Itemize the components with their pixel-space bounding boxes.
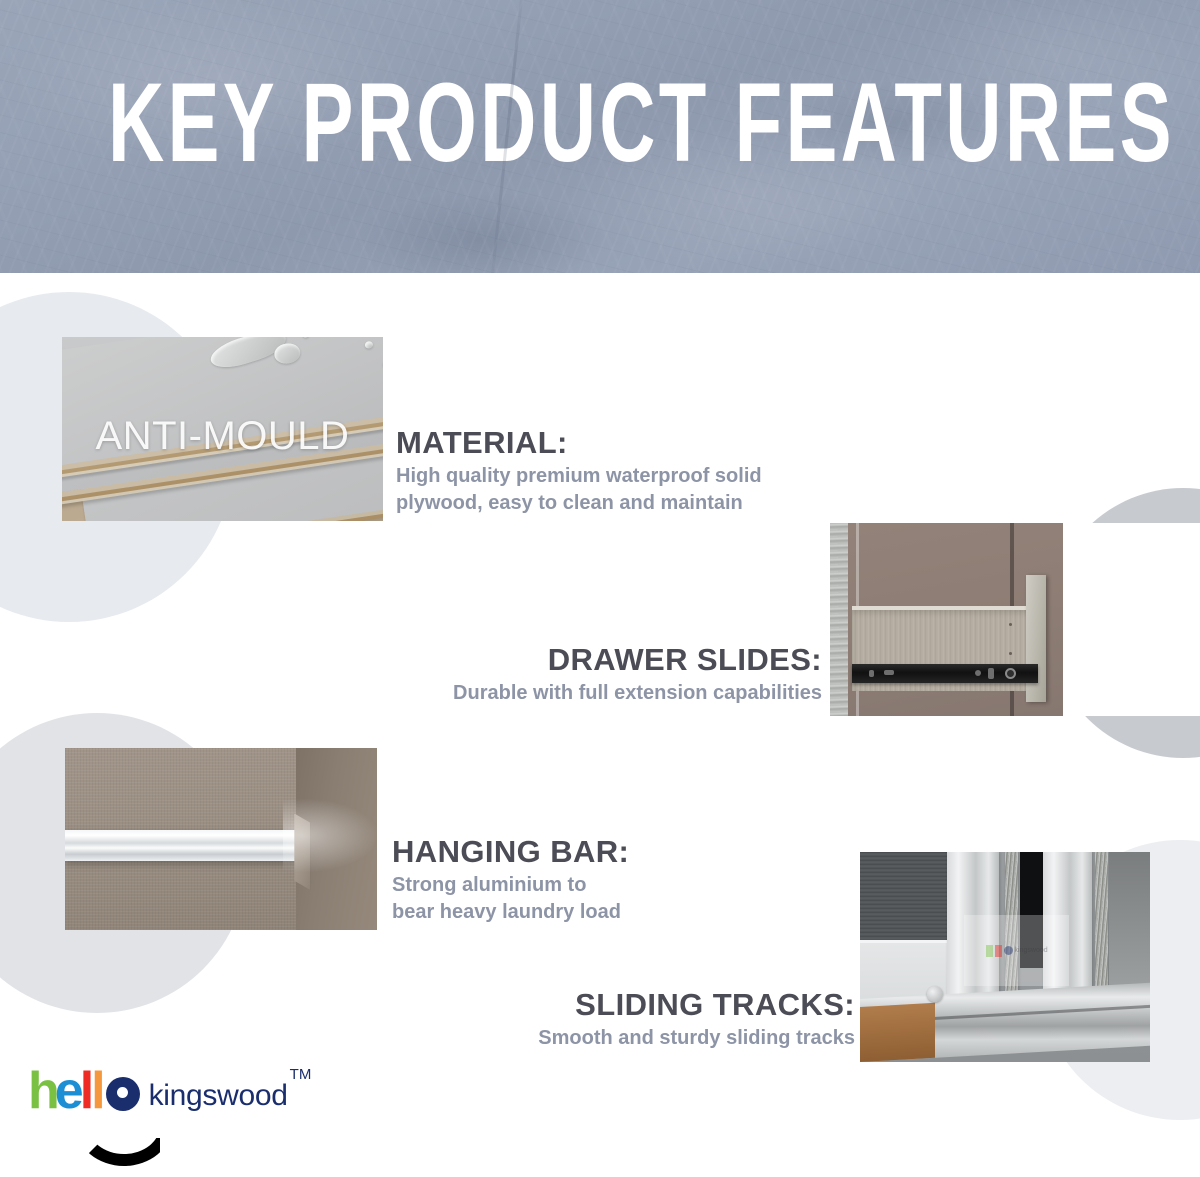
feature-image-drawer-slides (830, 523, 1063, 716)
drawer-front-panel (1026, 575, 1046, 702)
rail-detail (988, 668, 994, 679)
wall-panel-texture (830, 523, 848, 716)
watermark-text: kingswood (1015, 947, 1048, 954)
aluminium-hanging-rail (65, 830, 302, 861)
brand-logo[interactable]: h e l l kingswood TM (28, 1068, 311, 1114)
logo-brand-name: kingswood (149, 1079, 288, 1113)
logo-letter-h: h (28, 1069, 58, 1114)
feature-image-material: ANTI-MOULD (62, 337, 383, 521)
page-title: KEY PRODUCT FEATURES (108, 68, 1092, 180)
feature-body-hanging-bar: Strong aluminium to bear heavy laundry l… (392, 872, 629, 925)
trademark-symbol: TM (290, 1066, 312, 1083)
feature-heading-drawer-slides: DRAWER SLIDES: (322, 643, 822, 676)
feature-body-line: bear heavy laundry load (392, 899, 629, 925)
light-reflection (283, 799, 377, 872)
logo-wordmark: h e l l kingswood TM (28, 1068, 311, 1114)
feature-image-sliding-tracks: kingswood (860, 852, 1150, 1062)
feature-body-sliding-tracks: Smooth and sturdy sliding tracks (355, 1025, 855, 1051)
brand-watermark: kingswood (964, 915, 1068, 986)
rail-detail (884, 670, 894, 675)
watermark-mark-navy (1004, 946, 1013, 955)
decor-circle-drawer-mask (1063, 523, 1200, 716)
watermark-mark-red (995, 945, 1002, 957)
feature-heading-sliding-tracks: SLIDING TRACKS: (355, 988, 855, 1021)
logo-letter-e: e (55, 1069, 82, 1114)
feature-body-drawer-slides: Durable with full extension capabilities (322, 680, 822, 706)
logo-letter-o-circle (106, 1077, 140, 1111)
feature-text-sliding-tracks: SLIDING TRACKS: Smooth and sturdy slidin… (355, 988, 855, 1052)
water-droplet-medium (274, 342, 303, 366)
feature-text-hanging-bar: HANGING BAR: Strong aluminium to bear he… (392, 835, 629, 925)
feature-body-material: High quality premium waterproof solid pl… (396, 463, 762, 516)
rail-screw (1005, 668, 1016, 679)
feature-image-hanging-bar (65, 748, 377, 930)
door-roller-wheel (927, 986, 943, 1002)
logo-letter-l-orange: l (91, 1069, 103, 1114)
feature-body-line: plywood, easy to clean and maintain (396, 490, 762, 516)
header-banner: KEY PRODUCT FEATURES (0, 0, 1200, 273)
watermark-mark-green (986, 945, 993, 957)
feature-body-line: High quality premium waterproof solid (396, 463, 762, 489)
wooden-floor-edge (860, 1003, 935, 1062)
logo-smile-arc (76, 1120, 172, 1166)
water-droplet-small (365, 340, 374, 348)
water-droplet-small (303, 337, 310, 338)
feature-heading-material: MATERIAL: (396, 426, 762, 459)
feature-text-material: MATERIAL: High quality premium waterproo… (396, 426, 762, 516)
dark-wall-panel (860, 852, 947, 940)
feature-text-drawer-slides: DRAWER SLIDES: Durable with full extensi… (322, 643, 822, 707)
drawer-slide-rail (852, 664, 1038, 683)
feature-heading-hanging-bar: HANGING BAR: (392, 835, 629, 868)
feature-body-line: Durable with full extension capabilities (322, 680, 822, 706)
feature-body-line: Smooth and sturdy sliding tracks (355, 1025, 855, 1051)
rail-detail (975, 670, 981, 676)
feature-body-line: Strong aluminium to (392, 872, 629, 898)
anti-mould-overlay-label: ANTI-MOULD (62, 414, 383, 459)
rail-detail (869, 670, 874, 677)
